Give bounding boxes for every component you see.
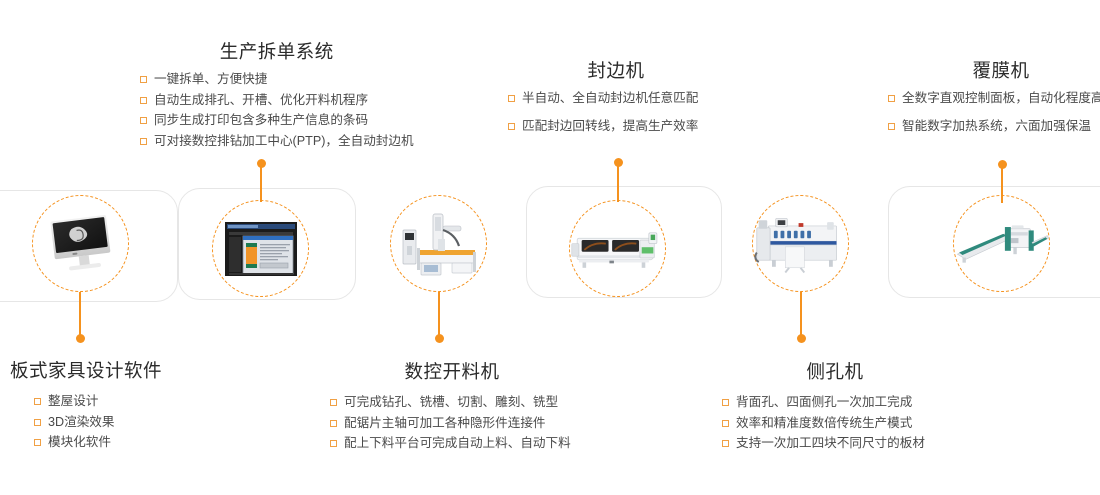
- design-software-bullets: 整屋设计 3D渲染效果 模块化软件: [34, 395, 162, 449]
- design-software-title: 板式家具设计软件: [10, 357, 162, 383]
- bullet-square-icon: [722, 399, 729, 406]
- bullet-square-icon: [888, 95, 895, 102]
- list-item: 3D渲染效果: [34, 416, 162, 429]
- list-item: 配锯片主轴可加工各种隐形件连接件: [330, 417, 574, 430]
- side-hole-title: 侧孔机: [722, 358, 948, 384]
- imac-monitor-icon: [39, 208, 123, 280]
- laminating-title: 覆膜机: [888, 57, 1100, 83]
- list-item: 模块化软件: [34, 436, 162, 449]
- node-cnc-cutting[interactable]: [390, 195, 487, 292]
- node-side-hole[interactable]: [752, 195, 849, 292]
- bullet-square-icon: [140, 138, 147, 145]
- connector-dot-design-software: [76, 334, 85, 343]
- list-item: 自动生成排孔、开槽、优化开料机程序: [140, 94, 414, 107]
- node-laminating[interactable]: [953, 195, 1050, 292]
- bullet-text: 自动生成排孔、开槽、优化开料机程序: [154, 94, 368, 107]
- bullet-text: 效率和精准度数倍传统生产模式: [736, 417, 912, 430]
- bullet-square-icon: [330, 440, 337, 447]
- side-drilling-machine-icon: [753, 213, 848, 275]
- list-item: 整屋设计: [34, 395, 162, 408]
- bullet-text: 3D渲染效果: [48, 416, 114, 429]
- bullet-square-icon: [34, 439, 41, 446]
- connector-dot-split-order: [257, 159, 266, 168]
- node-design-software[interactable]: [32, 195, 129, 292]
- cnc-cutting-title: 数控开料机: [330, 358, 574, 384]
- list-item: 配上下料平台可完成自动上料、自动下料: [330, 437, 574, 450]
- text-block-edge-banding: 封边机 半自动、全自动封边机任意匹配 匹配封边回转线，提高生产效率: [508, 57, 724, 147]
- bullet-square-icon: [722, 420, 729, 427]
- bullet-text: 配上下料平台可完成自动上料、自动下料: [344, 437, 571, 450]
- bullet-square-icon: [140, 117, 147, 124]
- bullet-square-icon: [34, 419, 41, 426]
- text-block-cnc-cutting: 数控开料机 可完成钻孔、铣槽、切割、雕刻、铣型 配锯片主轴可加工各种隐形件连接件…: [330, 358, 574, 458]
- bullet-text: 配锯片主轴可加工各种隐形件连接件: [344, 417, 546, 430]
- list-item: 背面孔、四面侧孔一次加工完成: [722, 396, 948, 409]
- bullet-square-icon: [140, 97, 147, 104]
- software-window-icon: [223, 220, 299, 278]
- connector-dot-cnc-cutting: [435, 334, 444, 343]
- bullet-text: 智能数字加热系统，六面加强保温: [902, 120, 1091, 133]
- list-item: 支持一次加工四块不同尺寸的板材: [722, 437, 948, 450]
- bullet-square-icon: [722, 440, 729, 447]
- list-item: 智能数字加热系统，六面加强保温: [888, 120, 1100, 133]
- connector-line-design-software: [79, 292, 81, 338]
- bullet-text: 整屋设计: [48, 395, 98, 408]
- list-item: 可完成钻孔、铣槽、切割、雕刻、铣型: [330, 396, 574, 409]
- bullet-square-icon: [888, 123, 895, 130]
- bullet-text: 全数字直观控制面板，自动化程度高: [902, 92, 1100, 105]
- bullet-square-icon: [140, 76, 147, 83]
- connector-dot-side-hole: [797, 334, 806, 343]
- bullet-square-icon: [34, 398, 41, 405]
- list-item: 可对接数控排钻加工中心(PTP)，全自动封边机: [140, 135, 414, 148]
- bullet-square-icon: [330, 420, 337, 427]
- bullet-text: 模块化软件: [48, 436, 111, 449]
- connector-line-edge-banding: [617, 165, 619, 202]
- cnc-router-machine-icon: [397, 208, 481, 280]
- split-order-title: 生产拆单系统: [140, 38, 414, 64]
- cnc-cutting-bullets: 可完成钻孔、铣槽、切割、雕刻、铣型 配锯片主轴可加工各种隐形件连接件 配上下料平…: [330, 396, 574, 450]
- text-block-laminating: 覆膜机 全数字直观控制面板，自动化程度高 智能数字加热系统，六面加强保温: [888, 57, 1100, 147]
- connector-line-side-hole: [800, 292, 802, 338]
- bullet-text: 支持一次加工四块不同尺寸的板材: [736, 437, 925, 450]
- laminating-bullets: 全数字直观控制面板，自动化程度高 智能数字加热系统，六面加强保温: [888, 92, 1100, 132]
- bullet-text: 可对接数控排钻加工中心(PTP)，全自动封边机: [154, 135, 414, 148]
- bullet-text: 背面孔、四面侧孔一次加工完成: [736, 396, 912, 409]
- list-item: 半自动、全自动封边机任意匹配: [508, 92, 724, 105]
- bullet-text: 可完成钻孔、铣槽、切割、雕刻、铣型: [344, 396, 558, 409]
- edge-banding-title: 封边机: [508, 57, 724, 83]
- bullet-text: 一键拆单、方便快捷: [154, 73, 267, 86]
- list-item: 同步生成打印包含多种生产信息的条码: [140, 114, 414, 127]
- node-split-order[interactable]: [212, 200, 309, 297]
- connector-dot-laminating: [998, 160, 1007, 169]
- edge-banding-machine-icon: [570, 223, 665, 275]
- text-block-split-order: 生产拆单系统 一键拆单、方便快捷 自动生成排孔、开槽、优化开料机程序 同步生成打…: [140, 38, 414, 155]
- bullet-text: 同步生成打印包含多种生产信息的条码: [154, 114, 368, 127]
- list-item: 全数字直观控制面板，自动化程度高: [888, 92, 1100, 105]
- connector-line-cnc-cutting: [438, 292, 440, 338]
- laminating-machine-icon: [954, 216, 1049, 272]
- connector-line-split-order: [260, 164, 262, 202]
- edge-banding-bullets: 半自动、全自动封边机任意匹配 匹配封边回转线，提高生产效率: [508, 92, 724, 132]
- node-edge-banding[interactable]: [569, 200, 666, 297]
- side-hole-bullets: 背面孔、四面侧孔一次加工完成 效率和精准度数倍传统生产模式 支持一次加工四块不同…: [722, 396, 948, 450]
- connector-dot-edge-banding: [614, 158, 623, 167]
- infographic-canvas: 生产拆单系统 一键拆单、方便快捷 自动生成排孔、开槽、优化开料机程序 同步生成打…: [0, 0, 1100, 495]
- bullet-square-icon: [508, 123, 515, 130]
- text-block-side-hole: 侧孔机 背面孔、四面侧孔一次加工完成 效率和精准度数倍传统生产模式 支持一次加工…: [722, 358, 948, 458]
- bullet-text: 匹配封边回转线，提高生产效率: [522, 120, 698, 133]
- list-item: 效率和精准度数倍传统生产模式: [722, 417, 948, 430]
- bullet-square-icon: [330, 399, 337, 406]
- split-order-bullets: 一键拆单、方便快捷 自动生成排孔、开槽、优化开料机程序 同步生成打印包含多种生产…: [140, 73, 414, 147]
- list-item: 一键拆单、方便快捷: [140, 73, 414, 86]
- list-item: 匹配封边回转线，提高生产效率: [508, 120, 724, 133]
- bullet-text: 半自动、全自动封边机任意匹配: [522, 92, 698, 105]
- text-block-design-software: 板式家具设计软件 整屋设计 3D渲染效果 模块化软件: [10, 357, 162, 457]
- bullet-square-icon: [508, 95, 515, 102]
